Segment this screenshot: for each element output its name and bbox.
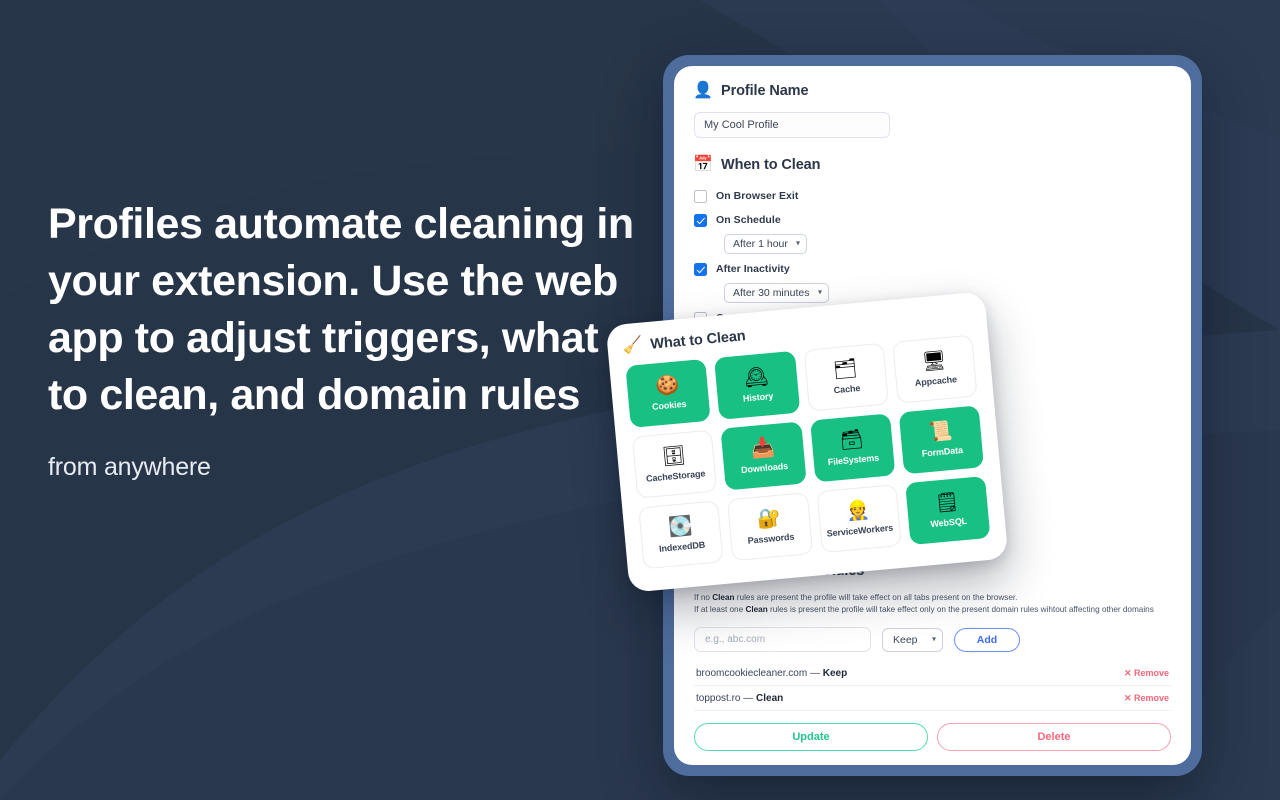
profile-name-title: Profile Name — [721, 83, 808, 99]
what-to-clean-card: 🧹 What to Clean 🍪Cookies🕰History🗂Cache🖥A… — [606, 291, 1009, 592]
clean-tile-label: FileSystems — [827, 453, 879, 468]
database-icon: 💽 — [668, 517, 693, 538]
clean-tile-label: History — [743, 391, 774, 404]
note-line-2a: If at least one — [694, 605, 745, 614]
checkbox-on-schedule[interactable] — [694, 214, 707, 227]
trigger-on-schedule[interactable]: On Schedule — [694, 210, 1171, 230]
desktop-computer-icon: 🖥 — [921, 351, 947, 372]
what-to-clean-title: What to Clean — [650, 328, 746, 353]
remove-rule-link[interactable]: ✕ Remove — [1124, 668, 1169, 679]
checkbox-on-browser-exit[interactable] — [694, 190, 707, 203]
domain-rules-section: 🌐 Domain-Based Rules If no Clean rules a… — [694, 562, 1171, 751]
trigger-label: On Browser Exit — [716, 190, 798, 202]
schedule-interval-select[interactable]: After 1 hour — [724, 234, 807, 254]
clean-tile-label: Passwords — [747, 532, 794, 546]
note-line-1b: Clean — [712, 593, 734, 602]
clean-tile-filesystems[interactable]: 🗃FileSystems — [810, 413, 896, 482]
inactivity-interval-select[interactable]: After 30 minutes — [724, 283, 829, 303]
clean-tile-label: Cookies — [652, 399, 687, 412]
table-row[interactable]: toppost.ro — Clean ✕ Remove — [694, 686, 1171, 711]
remove-rule-link[interactable]: ✕ Remove — [1124, 693, 1169, 704]
clean-tile-serviceworkers[interactable]: 👷ServiceWorkers — [816, 484, 902, 553]
rule-domain: broomcookiecleaner.com — — [696, 668, 823, 679]
profile-actions: Update Delete — [694, 723, 1171, 751]
add-rule-form: Keep ▾ Add — [694, 627, 1171, 652]
clean-tile-history[interactable]: 🕰History — [714, 351, 800, 420]
broom-bucket-icon: 🧹 — [623, 337, 643, 357]
clean-tile-downloads[interactable]: 📥Downloads — [721, 421, 807, 490]
sql-window-icon: 🗒 — [934, 493, 960, 514]
clean-target-grid: 🍪Cookies🕰History🗂Cache🖥Appcache🗄CacheSto… — [625, 335, 990, 570]
trigger-label: On Schedule — [716, 214, 781, 226]
delete-button[interactable]: Delete — [937, 723, 1171, 751]
when-to-clean-title: When to Clean — [721, 157, 820, 173]
clean-tile-label: IndexedDB — [659, 540, 706, 554]
clean-tile-label: Downloads — [741, 461, 789, 475]
download-icon: 📥 — [750, 438, 775, 459]
scroll-icon: 📜 — [928, 422, 953, 443]
clock-icon: 🕰 — [743, 367, 769, 388]
clean-tile-label: WebSQL — [930, 516, 968, 529]
clean-tile-indexeddb[interactable]: 💽IndexedDB — [638, 500, 724, 569]
bust-in-silhouette-icon: 👤 — [694, 82, 712, 100]
rule-domain: toppost.ro — — [696, 693, 756, 704]
clean-tile-label: ServiceWorkers — [826, 523, 893, 539]
cookie-icon: 🍪 — [655, 375, 680, 396]
hero-subline: from anywhere — [48, 450, 648, 484]
rule-text: broomcookiecleaner.com — Keep — [696, 668, 847, 679]
note-line-1c: rules are present the profile will take … — [735, 593, 1018, 602]
profile-name-heading: 👤 Profile Name — [694, 82, 1171, 100]
file-cabinet-icon: 🗄 — [661, 446, 687, 467]
trigger-on-browser-exit[interactable]: On Browser Exit — [694, 186, 1171, 206]
rule-text: toppost.ro — Clean — [696, 693, 783, 704]
trigger-after-inactivity[interactable]: After Inactivity — [694, 259, 1171, 279]
clean-tile-cookies[interactable]: 🍪Cookies — [625, 359, 711, 428]
rule-action: Clean — [756, 693, 783, 704]
add-rule-button[interactable]: Add — [954, 628, 1020, 652]
lock-key-icon: 🔐 — [757, 509, 782, 530]
schedule-select-wrap: After 1 hour ▾ — [724, 234, 1171, 254]
rule-action: Keep — [823, 668, 847, 679]
clean-tile-label: FormData — [921, 445, 963, 459]
domain-input[interactable] — [694, 627, 871, 652]
clean-tile-cache[interactable]: 🗂Cache — [803, 343, 889, 412]
note-line-2b: Clean — [745, 605, 767, 614]
clean-tile-websql[interactable]: 🗒WebSQL — [905, 476, 991, 545]
checkbox-after-inactivity[interactable] — [694, 263, 707, 276]
note-line-2c: rules is present the profile will take e… — [768, 605, 1154, 614]
file-box-icon: 🗃 — [839, 430, 865, 451]
clean-tile-cachestorage[interactable]: 🗄CacheStorage — [632, 430, 718, 499]
clean-tile-label: Appcache — [914, 374, 957, 388]
table-row[interactable]: broomcookiecleaner.com — Keep ✕ Remove — [694, 661, 1171, 686]
worker-icon: 👷 — [845, 501, 870, 522]
card-file-box-icon: 🗂 — [832, 359, 858, 380]
clean-tile-passwords[interactable]: 🔐Passwords — [727, 492, 813, 561]
clean-tile-appcache[interactable]: 🖥Appcache — [892, 335, 978, 404]
domain-rules-note: If no Clean rules are present the profil… — [694, 592, 1171, 616]
trigger-label: After Inactivity — [716, 263, 790, 275]
calendar-icon: 📅 — [694, 156, 712, 174]
clean-tile-label: CacheStorage — [646, 468, 706, 483]
profile-name-input[interactable] — [694, 112, 890, 138]
clean-tile-label: Cache — [833, 383, 860, 395]
note-line-1a: If no — [694, 593, 712, 602]
when-to-clean-heading: 📅 When to Clean — [694, 156, 1171, 174]
hero-copy: Profiles automate cleaning in your exten… — [48, 196, 648, 484]
update-button[interactable]: Update — [694, 723, 928, 751]
rule-action-select[interactable]: Keep — [882, 628, 943, 652]
clean-tile-formdata[interactable]: 📜FormData — [898, 405, 984, 474]
hero-headline: Profiles automate cleaning in your exten… — [48, 196, 648, 424]
